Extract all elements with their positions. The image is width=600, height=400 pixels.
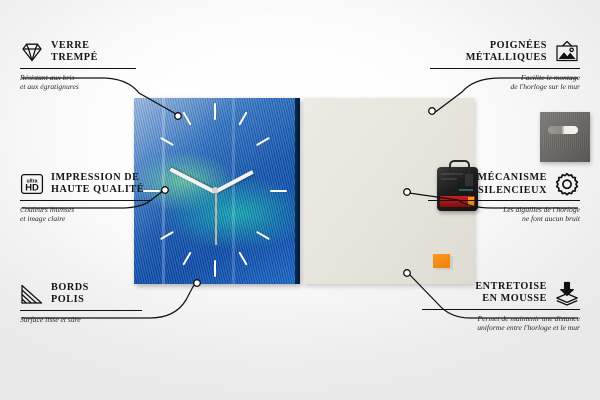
clock-tick (160, 231, 174, 240)
callout-title-line-1: BORDS (51, 282, 89, 294)
diamond-icon (20, 42, 44, 62)
clock-glass-edge (295, 98, 300, 284)
callout-rule (430, 68, 580, 69)
callout-title-line-1: ENTRETOISE (475, 281, 547, 293)
clock-center-pivot (212, 187, 218, 193)
callout-subtitle-line-1: Facilite le montage (430, 73, 580, 83)
product-photo (134, 98, 474, 284)
clock-tick (214, 103, 216, 120)
callout-title-line-2: SILENCIEUX (477, 185, 547, 197)
callout-subtitle-line-1: Surface lisse et sûre (20, 315, 160, 325)
callout-subtitle-line-2: ne font aucun bruit (428, 214, 580, 224)
clock-tick (182, 112, 191, 126)
callout-mecanisme-silencieux: MÉCANISME SILENCIEUX Les aiguilles de l'… (428, 172, 580, 224)
callout-title-line-1: POIGNÉES (466, 40, 547, 52)
clock-second-hand (215, 190, 217, 245)
callout-subtitle-line-1: Couleurs intenses (20, 205, 170, 215)
clock-tick (256, 137, 270, 146)
clock-hour-hand (214, 170, 254, 194)
foam-spacer-part (433, 254, 450, 268)
callout-rule (20, 68, 136, 69)
callout-subtitle-line-2: et image claire (20, 214, 170, 224)
callout-title-line-2: POLIS (51, 294, 89, 306)
gear-icon (554, 172, 580, 197)
clock-minute-hand (170, 168, 216, 194)
clock-tick (238, 112, 247, 126)
callout-title-line-2: EN MOUSSE (475, 293, 547, 305)
callout-poignees-metalliques: POIGNÉES MÉTALLIQUES Facilite le montage… (430, 40, 580, 92)
callout-subtitle-line-2: de l'horloge sur le mur (430, 82, 580, 92)
product-feature-infographic: VERRE TREMPÉ Résistant aux bris et aux é… (0, 0, 600, 400)
callout-verre-trempe: VERRE TREMPÉ Résistant aux bris et aux é… (20, 40, 155, 92)
callout-rule (20, 200, 152, 201)
clock-tick (182, 252, 191, 266)
callout-impression-haute-qualite: ultra HD IMPRESSION DE HAUTE QUALITÉ Cou… (20, 172, 170, 224)
callout-title-line-2: TREMPÉ (51, 52, 98, 64)
foam-spacer-arrow-icon (554, 281, 580, 305)
clock-tick (238, 252, 247, 266)
callout-title-line-1: VERRE (51, 40, 98, 52)
hanger-keyhole-slot (548, 126, 578, 134)
callout-rule (422, 309, 580, 310)
callout-subtitle-line-1: Permet de maintenir une distance (422, 314, 580, 324)
ultra-hd-icon: ultra HD (20, 173, 44, 195)
callout-title-line-2: HAUTE QUALITÉ (51, 184, 144, 196)
callout-title-line-1: MÉCANISME (477, 172, 547, 184)
clock-tick (256, 231, 270, 240)
clock-tick (160, 137, 174, 146)
callout-bords-polis: BORDS POLIS Surface lisse et sûre (20, 282, 160, 324)
callout-entretoise-en-mousse: ENTRETOISE EN MOUSSE Permet de maintenir… (422, 281, 580, 333)
framed-picture-hanging-icon (554, 40, 580, 64)
clock-tick (270, 190, 287, 192)
ultra-hd-icon-bottom-text: HD (25, 182, 39, 193)
callout-subtitle-line-2: uniforme entre l'horloge et le mur (422, 323, 580, 333)
callout-subtitle-line-2: et aux égratignures (20, 82, 155, 92)
callout-rule (20, 310, 142, 311)
callout-subtitle-line-1: Résistant aux bris (20, 73, 155, 83)
callout-subtitle-line-1: Les aiguilles de l'horloge (428, 205, 580, 215)
callout-rule (428, 200, 580, 201)
clock-tick (214, 260, 216, 277)
polished-edge-icon (20, 283, 44, 305)
callout-title-line-2: MÉTALLIQUES (466, 52, 547, 64)
metal-hanger-part (540, 112, 590, 162)
callout-title-line-1: IMPRESSION DE (51, 172, 144, 184)
